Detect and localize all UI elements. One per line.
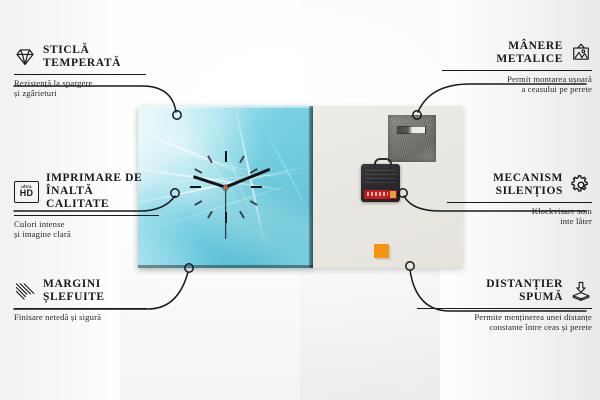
feature-title: MARGINI ȘLEFUITE — [43, 278, 105, 304]
quartz-mechanism — [361, 164, 400, 202]
feature-divider — [447, 202, 592, 203]
feature-manere-metalice: MÂNERE METALICE Permit montarea ușoară a… — [442, 40, 592, 95]
glass-top-edge — [138, 106, 313, 108]
press-down-pad-icon — [570, 281, 592, 301]
feature-description: Culori intense și imagine clară — [14, 219, 159, 240]
feature-distantier-spuma: DISTANȚIER SPUMĂ Permite menținerea unei… — [417, 278, 592, 333]
battery-plus-terminal — [390, 191, 396, 198]
feature-divider — [14, 74, 146, 75]
feature-imprimare-inalta-calitate: ultra HD IMPRIMARE DE ÎNALTĂ CALITATE Cu… — [14, 172, 159, 240]
gear-icon — [570, 175, 592, 195]
feature-title: DISTANȚIER SPUMĂ — [486, 278, 563, 304]
feature-description: Permit montarea ușoară a ceasului pe per… — [442, 74, 592, 95]
feature-description: Finisare netedă și sigură — [14, 312, 147, 322]
infographic-canvas: STICLĂ TEMPERATĂ Rezistență la spargere … — [0, 0, 600, 400]
mechanism-hanging-loop — [374, 158, 392, 169]
metal-hanger-plate — [388, 115, 436, 162]
clock-second-hand — [225, 187, 226, 239]
ultra-hd-icon-main-label: HD — [20, 189, 33, 198]
feature-divider — [417, 308, 592, 309]
product-image — [138, 106, 463, 268]
feature-mecanism-silentios: MECANISM SILENȚIOS Klockvisare som inte … — [447, 172, 592, 227]
battery — [364, 190, 397, 199]
feature-divider — [442, 70, 592, 71]
feature-title: MÂNERE METALICE — [496, 40, 563, 66]
feature-divider — [14, 308, 147, 309]
feature-description: Rezistență la spargere și zgârieturi — [14, 78, 146, 99]
feature-title: IMPRIMARE DE ÎNALTĂ CALITATE — [46, 172, 159, 211]
feature-title: STICLĂ TEMPERATĂ — [43, 44, 121, 70]
feature-margini-slefuite: MARGINI ȘLEFUITE Finisare netedă și sigu… — [14, 278, 147, 322]
feature-divider — [14, 215, 159, 216]
foam-spacer — [374, 244, 389, 258]
clock-back-panel — [313, 106, 463, 268]
diamond-icon — [14, 47, 36, 67]
sanded-edge-icon — [14, 281, 36, 301]
hanger-slot — [396, 126, 426, 134]
mechanism-texture — [365, 170, 396, 186]
hanging-picture-icon — [570, 43, 592, 63]
clock-front-face — [138, 106, 313, 268]
feature-title: MECANISM SILENȚIOS — [493, 172, 563, 198]
feature-description: Permite menținerea unei distanțe constan… — [417, 312, 592, 333]
ultra-hd-icon: ultra HD — [14, 181, 39, 203]
battery-label — [367, 192, 388, 196]
feature-description: Klockvisare som inte låter — [447, 206, 592, 227]
feature-sticla-temperata: STICLĂ TEMPERATĂ Rezistență la spargere … — [14, 44, 146, 99]
clock-center-pin — [223, 185, 228, 190]
glass-bottom-edge — [138, 265, 313, 268]
